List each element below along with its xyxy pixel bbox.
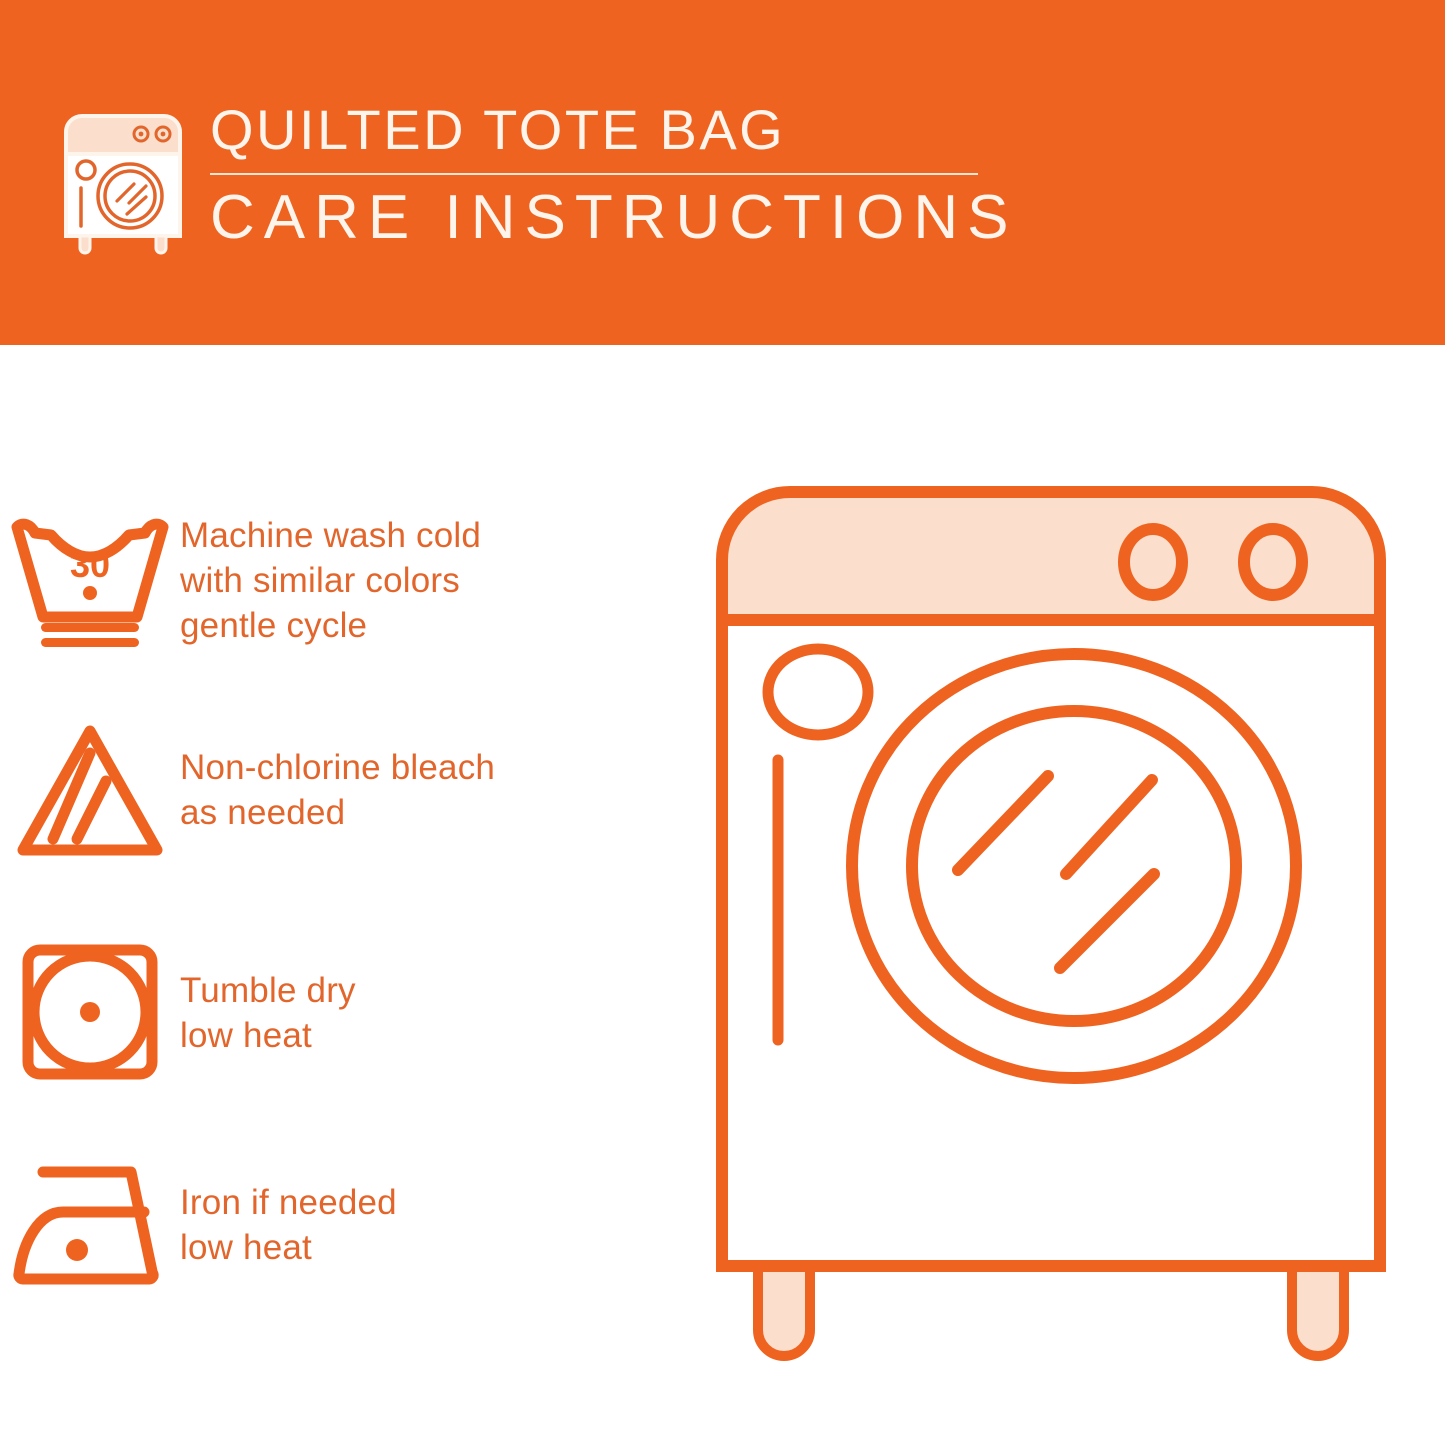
care-instruction-list: 30 Machine wash cold with similar colors… [0, 345, 700, 1445]
care-item-label: Non-chlorine bleach as needed [180, 745, 495, 835]
non-chlorine-bleach-triangle-icon [0, 715, 180, 865]
machine-control-panel [722, 492, 1380, 620]
page-subtitle: CARE INSTRUCTIONS [210, 181, 980, 255]
care-item-label: Iron if needed low heat [180, 1180, 397, 1270]
care-item-bleach: Non-chlorine bleach as needed [0, 705, 700, 875]
machine-leg-right [1292, 1260, 1344, 1356]
tumble-dry-low-icon [0, 938, 180, 1088]
care-item-machine-wash: 30 Machine wash cold with similar colors… [0, 490, 700, 670]
header-banner: QUILTED TOTE BAG CARE INSTRUCTIONS [0, 0, 1445, 345]
wash-temperature-label: 30 [70, 544, 110, 585]
washing-machine-illustration [710, 470, 1410, 1370]
care-item-label: Machine wash cold with similar colors ge… [180, 513, 481, 648]
care-item-label: Tumble dry low heat [180, 968, 356, 1058]
page-title: QUILTED TOTE BAG [210, 96, 980, 164]
machine-leg-left [758, 1260, 810, 1356]
title-divider [210, 173, 978, 175]
care-item-tumble-dry: Tumble dry low heat [0, 930, 700, 1095]
iron-low-heat-icon [0, 1150, 180, 1300]
wash-basin-30-icon: 30 [0, 505, 180, 655]
header-title-block: QUILTED TOTE BAG CARE INSTRUCTIONS [210, 96, 980, 255]
washing-machine-icon [62, 104, 184, 256]
care-item-iron: Iron if needed low heat [0, 1145, 700, 1305]
